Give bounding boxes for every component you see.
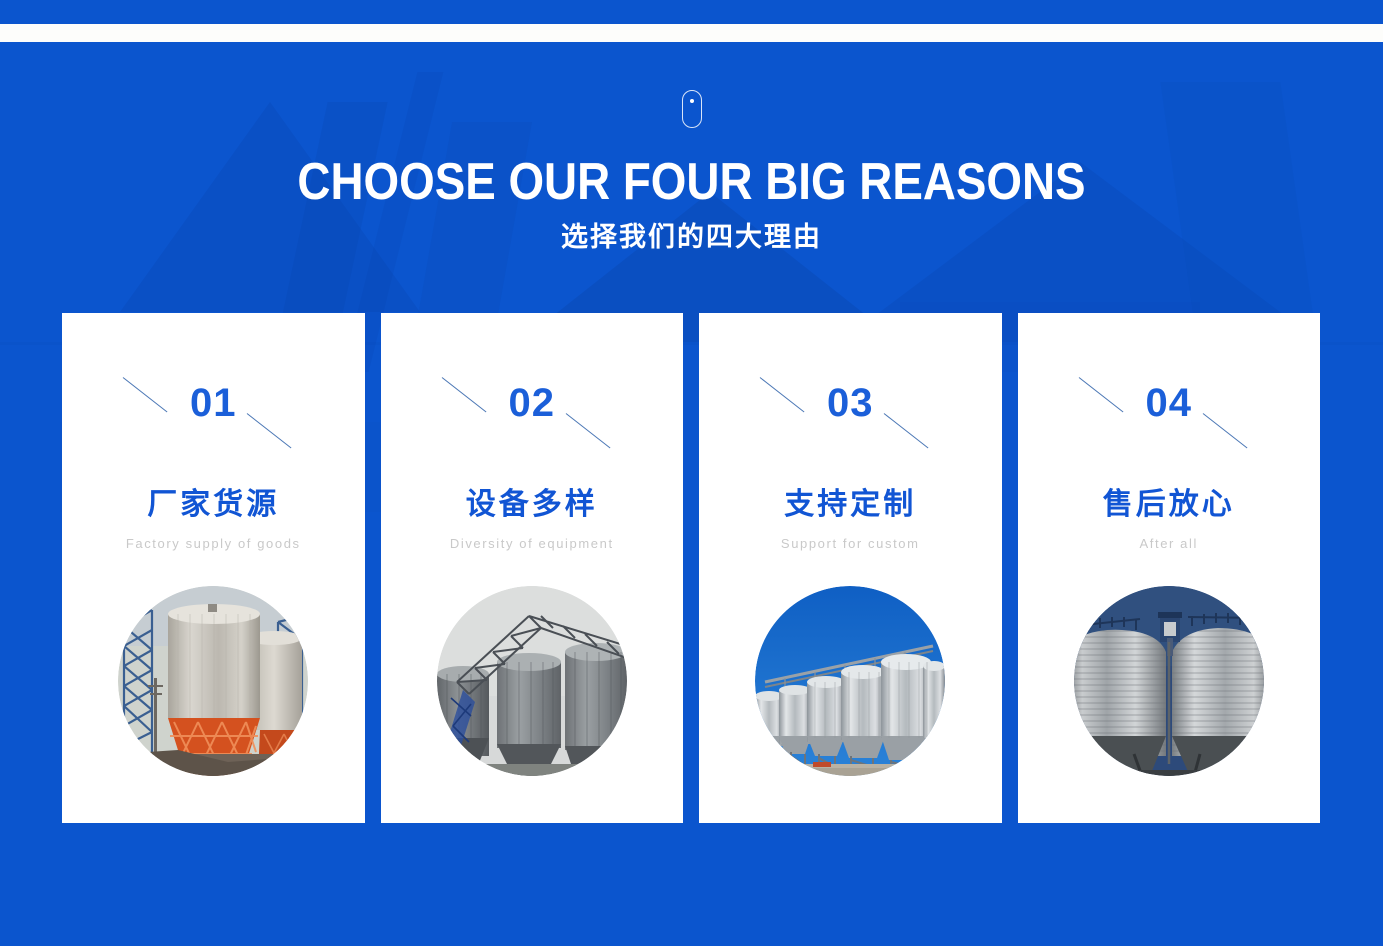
card-photo-03 <box>755 586 945 776</box>
card-number-group-03: 03 <box>699 369 1002 479</box>
card-subtitle-en-03: Support for custom <box>760 535 940 553</box>
card-title-cn-01: 厂家货源 <box>62 485 365 525</box>
mouse-scroll-icon[interactable] <box>682 90 702 128</box>
grey-silos-with-conveyor-image <box>437 586 627 776</box>
reason-cards: 01 厂家货源 Factory supply of goods <box>62 313 1320 823</box>
reason-card-03[interactable]: 03 支持定制 Support for custom <box>699 313 1002 823</box>
white-divider-stripe <box>0 24 1383 42</box>
card-number-03: 03 <box>699 381 1002 426</box>
reason-card-02[interactable]: 02 设备多样 Diversity of equipment <box>381 313 684 823</box>
reason-card-04[interactable]: 04 售后放心 After all <box>1018 313 1321 823</box>
card-number-group-01: 01 <box>62 369 365 479</box>
card-subtitle-en-04: After all <box>1079 535 1259 553</box>
row-of-galvanized-silos-blue-sky-image <box>755 586 945 776</box>
card-subtitle-en-02: Diversity of equipment <box>442 535 622 553</box>
page-title-cn: 选择我们的四大理由 <box>0 220 1383 256</box>
card-number-group-02: 02 <box>381 369 684 479</box>
card-number-04: 04 <box>1018 381 1321 426</box>
section-header: CHOOSE OUR FOUR BIG REASONS 选择我们的四大理由 <box>0 152 1383 256</box>
bottom-blue-fill <box>0 823 1383 946</box>
page-title-en: CHOOSE OUR FOUR BIG REASONS <box>83 152 1300 212</box>
mouse-scroll-dot <box>690 99 694 103</box>
card-number-02: 02 <box>381 381 684 426</box>
reason-card-01[interactable]: 01 厂家货源 Factory supply of goods <box>62 313 365 823</box>
card-photo-01 <box>118 586 308 776</box>
card-title-cn-04: 售后放心 <box>1018 485 1321 525</box>
silo-with-orange-support-structure-image <box>118 586 308 776</box>
promo-section: CHOOSE OUR FOUR BIG REASONS 选择我们的四大理由 01… <box>0 0 1383 946</box>
card-photo-04 <box>1074 586 1264 776</box>
card-number-01: 01 <box>62 381 365 426</box>
top-blue-band <box>0 0 1383 24</box>
card-number-group-04: 04 <box>1018 369 1321 479</box>
two-large-corrugated-silos-image <box>1074 586 1264 776</box>
card-subtitle-en-01: Factory supply of goods <box>123 535 303 553</box>
card-title-cn-02: 设备多样 <box>381 485 684 525</box>
card-title-cn-03: 支持定制 <box>699 485 1002 525</box>
card-photo-02 <box>437 586 627 776</box>
